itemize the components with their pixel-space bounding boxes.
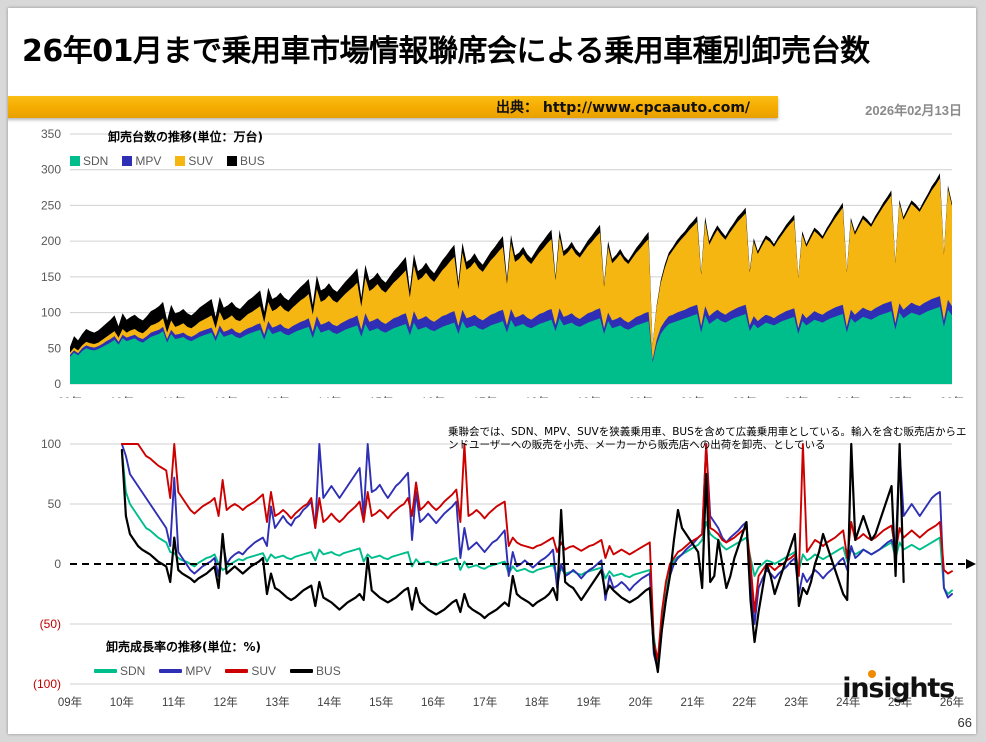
legend-item-suv: SUV: [225, 664, 276, 678]
chart1-ytick: 100: [41, 306, 61, 320]
chart2-ytick: 50: [48, 497, 62, 511]
source-url-label: 出典： http://www.cpcaauto.com/: [496, 97, 750, 117]
chart1-xtick: 13年: [265, 395, 289, 398]
chart1-xtick: 17年: [473, 395, 497, 398]
chart2-xtick: 16年: [421, 695, 445, 709]
chart1-xtick: 19年: [577, 395, 601, 398]
chart1-ytick: 0: [54, 377, 61, 391]
legend-item-suv: SUV: [175, 154, 213, 168]
chart2-xtick: 23年: [784, 695, 808, 709]
chart1-ytick: 50: [48, 341, 62, 355]
chart2-xtick: 22年: [732, 695, 756, 709]
wholesale-volume-chart: 05010015020025030035009年10年11年12年13年14年1…: [8, 126, 976, 398]
chart2-xtick: 09年: [58, 695, 82, 709]
chart2-ytick: (50): [40, 617, 61, 631]
slide-page: 26年01月まで乗用車市場情報聯席会による乗用車種別卸売台数 出典： http:…: [8, 8, 976, 734]
chart2-title: 卸売成長率の推移(単位：%): [106, 638, 261, 655]
chart1-xtick: 18年: [525, 395, 549, 398]
legend-label-mpv: MPV: [135, 154, 161, 168]
chart2-xtick: 10年: [110, 695, 134, 709]
chart2-ytick: 0: [54, 557, 61, 571]
chart1-xtick: 22年: [732, 395, 756, 398]
legend-swatch-bus: [227, 156, 237, 166]
chart2-xtick: 13年: [265, 695, 289, 709]
chart1-xtick: 23年: [784, 395, 808, 398]
legend-item-bus: BUS: [290, 664, 341, 678]
chart1-xtick: 25年: [888, 395, 912, 398]
chart2-xtick: 14年: [317, 695, 341, 709]
chart1-xtick: 15年: [369, 395, 393, 398]
legend-swatch-mpv: [159, 669, 182, 673]
chart1-xtick: 10年: [110, 395, 134, 398]
chart1-xtick: 16年: [421, 395, 445, 398]
legend-label-sdn: SDN: [83, 154, 108, 168]
legend-label-suv: SUV: [251, 664, 276, 678]
legend-swatch-sdn: [94, 669, 117, 673]
chart1-xtick: 14年: [317, 395, 341, 398]
chart2-line-sdn: [122, 450, 952, 666]
insights-logo: insights: [842, 673, 954, 704]
chart1-xtick: 26年: [940, 395, 964, 398]
chart2-ytick: (100): [33, 677, 61, 691]
chart-note: 乗聯会では、SDN、MPV、SUVを狭義乗用車、BUSを含めて広義乗用車としてい…: [448, 426, 968, 452]
chart2-zero-line-arrow: [966, 559, 976, 569]
chart1-xtick: 12年: [213, 395, 237, 398]
legend-item-sdn: SDN: [70, 154, 108, 168]
legend-label-bus: BUS: [316, 664, 341, 678]
chart1-xtick: 11年: [162, 395, 185, 398]
chart1-legend: SDNMPVSUVBUS: [70, 154, 274, 168]
legend-swatch-suv: [225, 669, 248, 673]
chart2-xtick: 18年: [525, 695, 549, 709]
legend-item-bus: BUS: [227, 154, 265, 168]
chart1-xtick: 20年: [629, 395, 653, 398]
chart1-ytick: 150: [41, 270, 61, 284]
chart2-legend: SDNMPVSUVBUS: [94, 664, 350, 678]
chart2-xtick: 11年: [162, 695, 185, 709]
chart1-title: 卸売台数の推移(単位：万台): [108, 128, 263, 145]
date-label: 2026年02月13日: [865, 100, 962, 119]
chart1-ytick: 300: [41, 163, 61, 177]
chart2-xtick: 21年: [680, 695, 704, 709]
legend-swatch-suv: [175, 156, 185, 166]
chart2-xtick: 15年: [369, 695, 393, 709]
legend-swatch-bus: [290, 669, 313, 673]
legend-item-sdn: SDN: [94, 664, 145, 678]
chart1-xtick: 09年: [58, 395, 82, 398]
legend-label-suv: SUV: [188, 154, 213, 168]
legend-label-mpv: MPV: [185, 664, 211, 678]
chart2-line-suv: [122, 444, 952, 660]
chart1-ytick: 250: [41, 198, 61, 212]
legend-item-mpv: MPV: [159, 664, 211, 678]
legend-label-bus: BUS: [240, 154, 265, 168]
chart2-xtick: 19年: [577, 695, 601, 709]
wholesale-growth-chart: (100)(50)05010009年10年11年12年13年14年15年16年1…: [8, 420, 976, 720]
legend-swatch-mpv: [122, 156, 132, 166]
chart1-xtick: 24年: [836, 395, 860, 398]
chart1-ytick: 200: [41, 234, 61, 248]
chart2-ytick: 100: [41, 437, 61, 451]
legend-label-sdn: SDN: [120, 664, 145, 678]
legend-swatch-sdn: [70, 156, 80, 166]
chart2-xtick: 17年: [473, 695, 497, 709]
chart1-xtick: 21年: [680, 395, 704, 398]
chart1-ytick: 350: [41, 127, 61, 141]
chart2-xtick: 12年: [213, 695, 237, 709]
page-number: 66: [958, 715, 972, 730]
chart2-xtick: 20年: [629, 695, 653, 709]
legend-item-mpv: MPV: [122, 154, 161, 168]
page-title: 26年01月まで乗用車市場情報聯席会による乗用車種別卸売台数: [22, 26, 962, 70]
